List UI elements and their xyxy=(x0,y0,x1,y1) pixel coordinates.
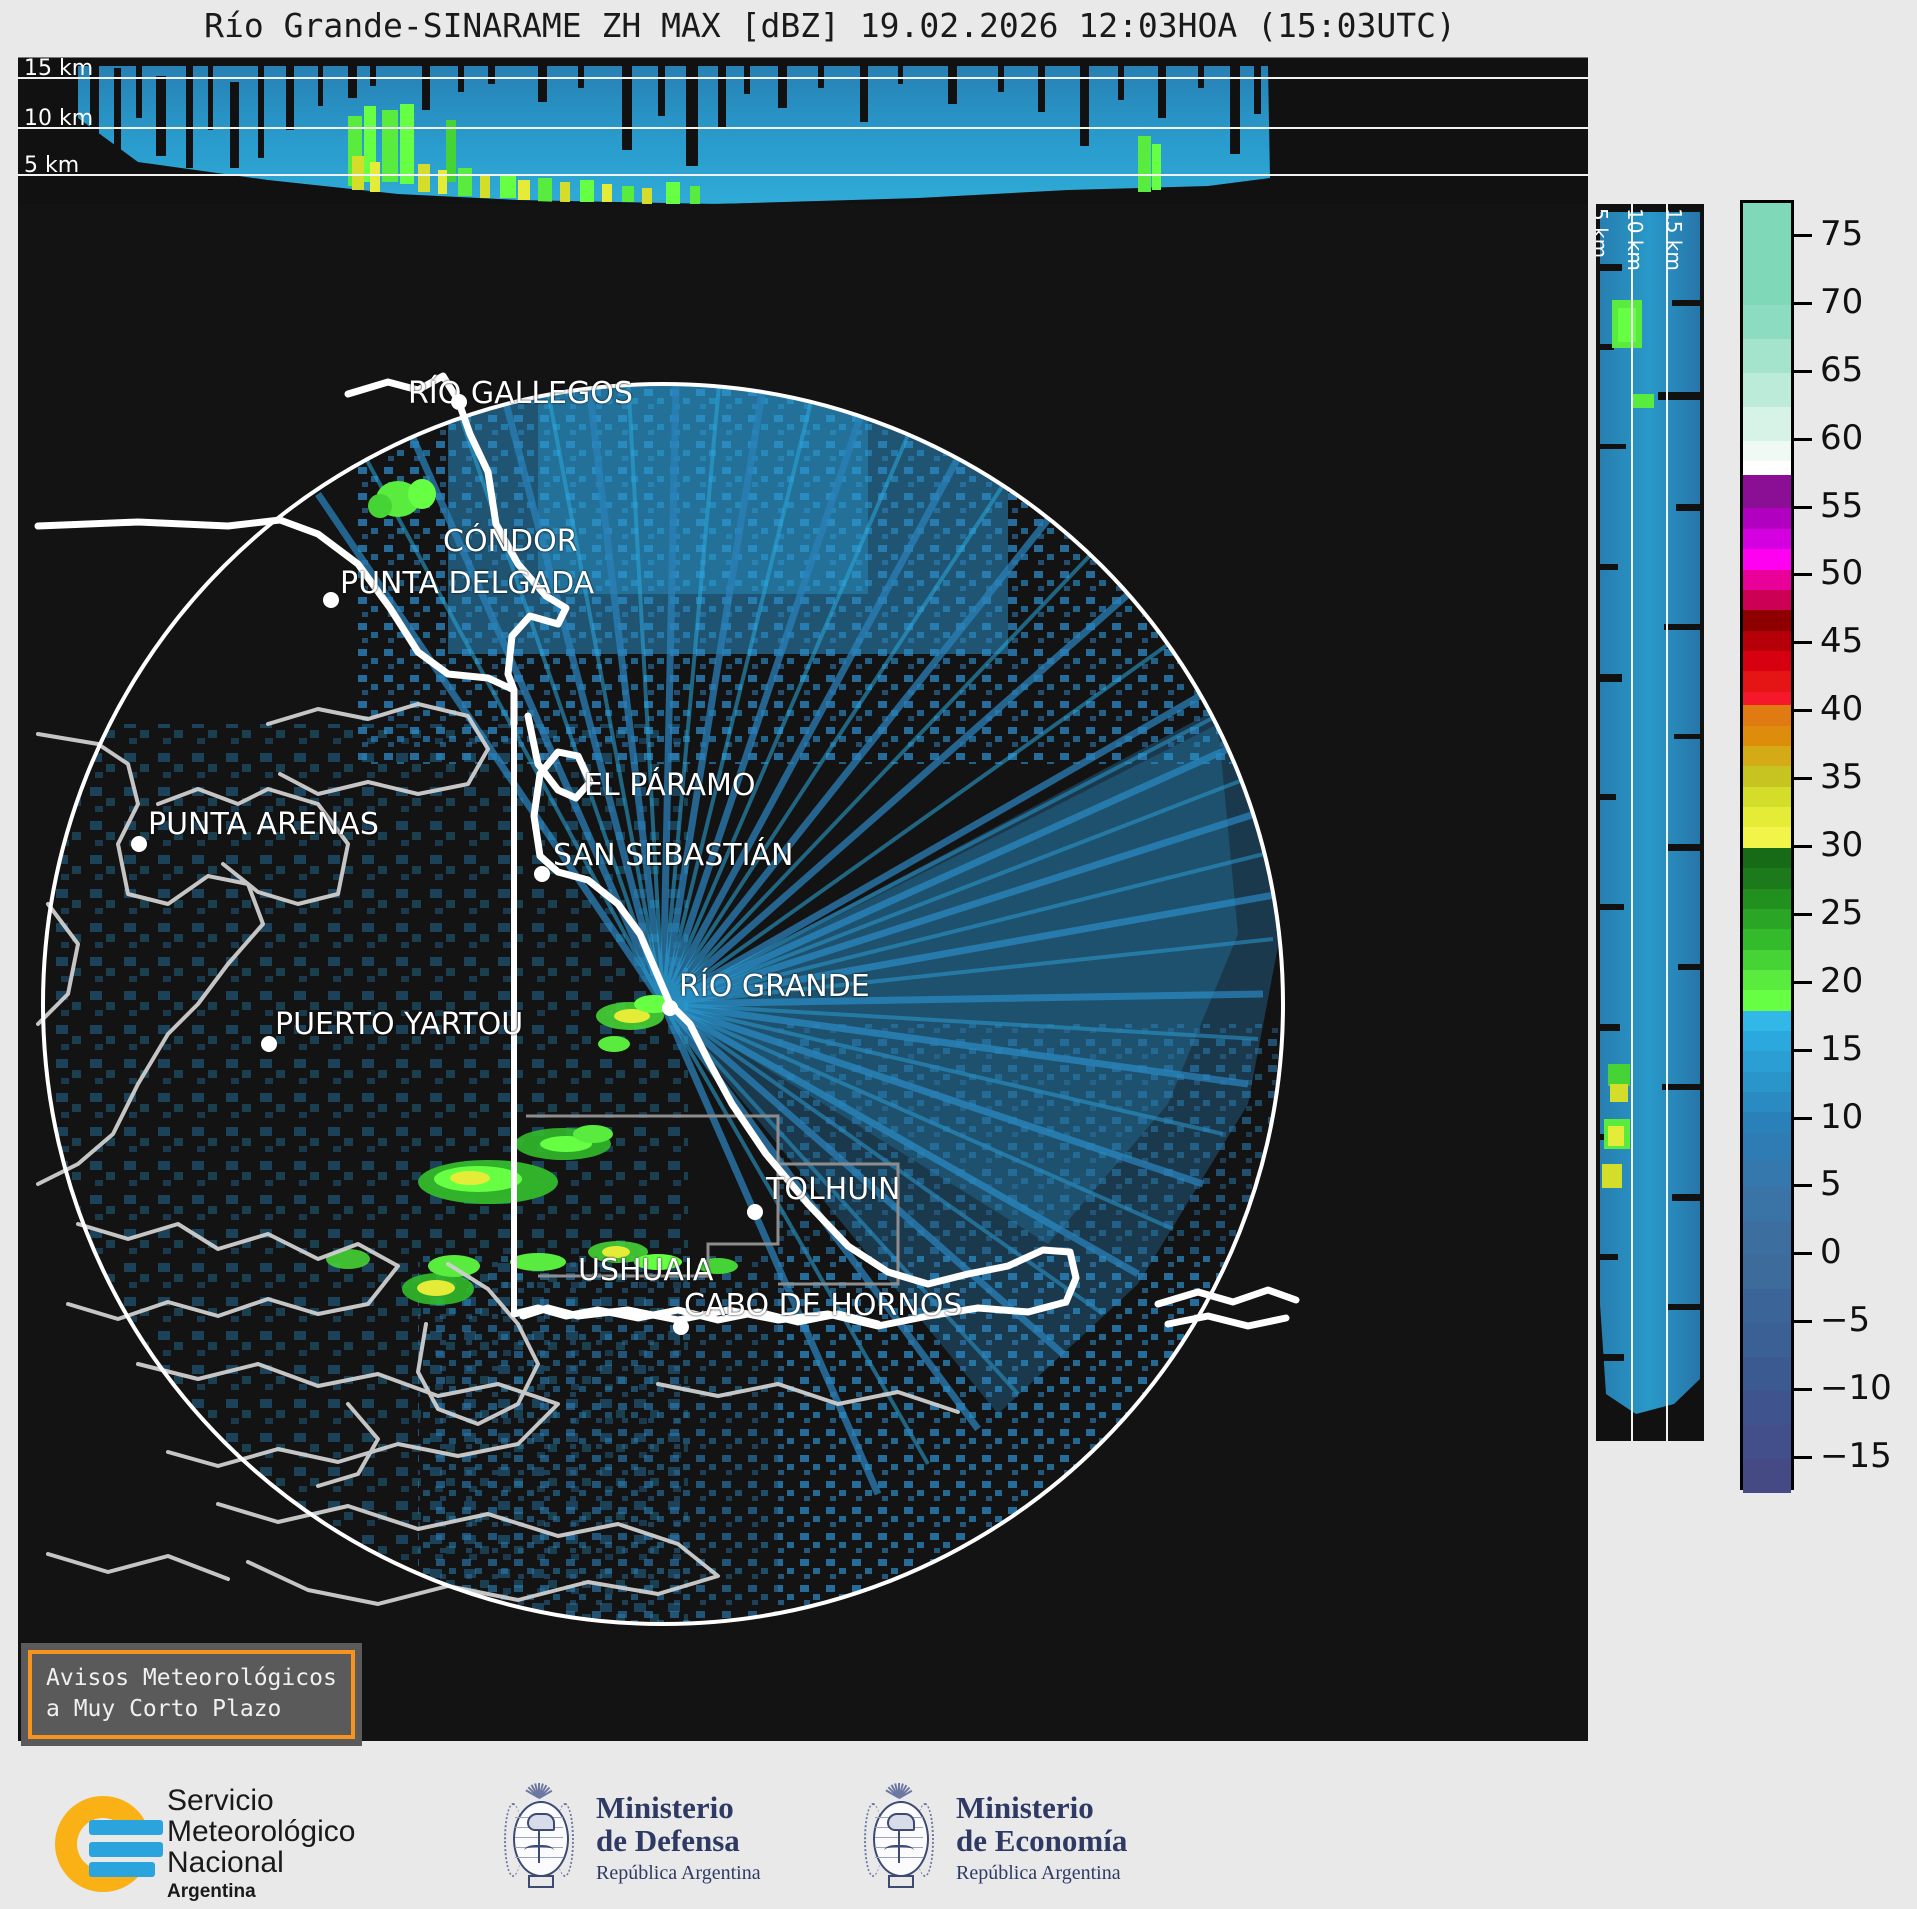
right-cross-section-label-5km: 5 km xyxy=(1596,208,1612,258)
colorbar-tick-label: 10 xyxy=(1820,1097,1863,1137)
radar-plan-view[interactable]: RÍO GALLEGOS CÓNDOR PUNTA DELGADA EL PÁR… xyxy=(18,204,1588,1741)
economia-line-2: de Economía xyxy=(956,1825,1127,1858)
colorbar-tick-label: −10 xyxy=(1820,1368,1892,1408)
colorbar[interactable]: 757065605550454035302520151050−5−10−15 xyxy=(1740,200,1900,1490)
city-dot-tolhuin xyxy=(747,1204,763,1220)
colorbar-tick xyxy=(1794,777,1812,780)
city-dot-punta-delgada xyxy=(323,592,339,608)
colorbar-tick-label: 45 xyxy=(1820,621,1863,661)
colorbar-segment xyxy=(1743,339,1791,373)
colorbar-segment xyxy=(1743,549,1791,569)
city-dot-san-sebastian xyxy=(534,866,550,882)
avisos-line-2: a Muy Corto Plazo xyxy=(46,1694,337,1725)
colorbar-segment xyxy=(1743,373,1791,407)
colorbar-segment xyxy=(1743,1112,1791,1132)
level-line-15km xyxy=(18,77,1588,79)
city-dot-rio-grande xyxy=(662,1000,678,1016)
economia-line-3: República Argentina xyxy=(956,1860,1127,1886)
city-dot-punta-arenas xyxy=(131,836,147,852)
avisos-line-1: Avisos Meteorológicos xyxy=(46,1663,337,1694)
colorbar-tick-label: 5 xyxy=(1820,1164,1842,1204)
colorbar-segment xyxy=(1743,807,1791,827)
colorbar-segment xyxy=(1743,1072,1791,1092)
colorbar-segment xyxy=(1743,990,1791,1010)
smn-line-4: Argentina xyxy=(167,1881,355,1903)
colorbar-tick xyxy=(1794,573,1812,576)
height-line-10km-right xyxy=(1666,204,1668,1441)
colorbar-tick-label: −15 xyxy=(1820,1436,1892,1476)
city-label-san-sebastian: SAN SEBASTIÁN xyxy=(553,838,793,873)
height-line-5km-right xyxy=(1631,204,1633,1441)
defensa-line-2: de Defensa xyxy=(596,1825,761,1858)
colorbar-tick xyxy=(1794,1049,1812,1052)
colorbar-tick-label: 60 xyxy=(1820,418,1863,458)
colorbar-tick-label: 30 xyxy=(1820,825,1863,865)
cross-section-label-10km: 10 km xyxy=(24,108,93,130)
level-line-5km xyxy=(18,174,1588,176)
top-cross-section-data xyxy=(18,58,1588,205)
colorbar-segment xyxy=(1743,746,1791,766)
city-label-condor: CÓNDOR xyxy=(443,524,578,559)
colorbar-segment xyxy=(1743,1357,1791,1391)
colorbar-tick xyxy=(1794,1456,1812,1459)
colorbar-tick xyxy=(1794,641,1812,644)
colorbar-segment xyxy=(1743,1425,1791,1459)
colorbar-tick-label: −5 xyxy=(1820,1300,1870,1340)
colorbar-segment xyxy=(1743,461,1791,475)
colorbar-tick xyxy=(1794,1320,1812,1323)
right-cross-section-data xyxy=(1596,204,1704,1441)
colorbar-segment xyxy=(1743,1187,1791,1221)
city-label-punta-arenas: PUNTA ARENAS xyxy=(148,807,379,842)
city-label-puerto-yartou: PUERTO YARTOU xyxy=(275,1007,523,1042)
smn-line-3: Nacional xyxy=(167,1847,355,1878)
colorbar-segment xyxy=(1743,1221,1791,1255)
colorbar-tick-label: 70 xyxy=(1820,282,1863,322)
colorbar-tick-label: 50 xyxy=(1820,553,1863,593)
city-dot-puerto-yartou xyxy=(261,1036,277,1052)
colorbar-segment xyxy=(1743,671,1791,691)
colorbar-segment xyxy=(1743,970,1791,990)
page-title: Río Grande-SINARAME ZH MAX [dBZ] 19.02.2… xyxy=(0,6,1660,45)
colorbar-segment xyxy=(1743,590,1791,610)
colorbar-tick xyxy=(1794,1117,1812,1120)
smn-line-1: Servicio xyxy=(167,1785,355,1816)
colorbar-segment xyxy=(1743,1323,1791,1357)
colorbar-tick-label: 35 xyxy=(1820,757,1863,797)
economia-line-1: Ministerio xyxy=(956,1792,1127,1825)
colorbar-segment xyxy=(1743,929,1791,949)
colorbar-tick xyxy=(1794,913,1812,916)
colorbar-tick xyxy=(1794,506,1812,509)
city-label-tolhuin: TOLHUIN xyxy=(766,1172,900,1207)
colorbar-segment xyxy=(1743,848,1791,868)
colorbar-segment xyxy=(1743,407,1791,441)
colorbar-segment xyxy=(1743,1011,1791,1031)
colorbar-tick-label: 0 xyxy=(1820,1232,1842,1272)
city-dot-cabo-de-hornos xyxy=(673,1319,689,1335)
colorbar-segment xyxy=(1743,441,1791,461)
colorbar-tick-label: 75 xyxy=(1820,214,1863,254)
colorbar-segment xyxy=(1743,726,1791,746)
defensa-line-1: Ministerio xyxy=(596,1792,761,1825)
colorbar-segment xyxy=(1743,305,1791,339)
colorbar-tick-label: 15 xyxy=(1820,1029,1863,1069)
colorbar-segment xyxy=(1743,1092,1791,1112)
city-label-cabo-de-hornos: CABO DE HORNOS xyxy=(684,1288,962,1323)
cross-section-label-15km: 15 km xyxy=(24,58,93,80)
colorbar-segment xyxy=(1743,1459,1791,1493)
city-label-el-paramo: EL PÁRAMO xyxy=(584,768,756,803)
city-label-rio-gallegos: RÍO GALLEGOS xyxy=(408,376,633,411)
colorbar-segment xyxy=(1743,203,1791,271)
right-cross-section-label-15km: 15 km xyxy=(1662,208,1686,271)
colorbar-tick-label: 40 xyxy=(1820,689,1863,729)
city-dot-rio-gallegos xyxy=(451,394,467,410)
right-cross-section-panel: 5 km 10 km 15 km xyxy=(1596,204,1704,1441)
top-cross-section-panel: 15 km 10 km 5 km xyxy=(18,57,1588,205)
cross-section-label-5km: 5 km xyxy=(24,155,79,177)
colorbar-segment xyxy=(1743,529,1791,549)
city-label-rio-grande: RÍO GRANDE xyxy=(679,969,870,1004)
colorbar-segment xyxy=(1743,766,1791,786)
colorbar-segment xyxy=(1743,475,1791,509)
colorbar-tick-label: 20 xyxy=(1820,961,1863,1001)
colorbar-tick xyxy=(1794,234,1812,237)
smn-logo-icon xyxy=(55,1796,151,1892)
colorbar-segment xyxy=(1743,570,1791,590)
colorbar-segment xyxy=(1743,508,1791,528)
colorbar-segment xyxy=(1743,1160,1791,1187)
colorbar-tick-label: 65 xyxy=(1820,350,1863,390)
smn-line-2: Meteorológico xyxy=(167,1816,355,1847)
city-label-punta-delgada: PUNTA DELGADA xyxy=(340,566,594,601)
colorbar-tick xyxy=(1794,981,1812,984)
logo-ministerio-economia: Ministerio de Economía República Argenti… xyxy=(860,1783,1127,1895)
colorbar-segment xyxy=(1743,868,1791,888)
colorbar-segment xyxy=(1743,1031,1791,1051)
city-label-ushuaia: USHUAIA xyxy=(578,1253,713,1288)
colorbar-tick xyxy=(1794,370,1812,373)
colorbar-tick xyxy=(1794,1388,1812,1391)
colorbar-segment xyxy=(1743,1051,1791,1071)
footer-logos: Servicio Meteorológico Nacional Argentin… xyxy=(0,1775,1917,1909)
colorbar-segment xyxy=(1743,1391,1791,1425)
colorbar-tick xyxy=(1794,1252,1812,1255)
colorbar-tick xyxy=(1794,438,1812,441)
colorbar-segment xyxy=(1743,271,1791,305)
argentina-coat-of-arms-icon-2 xyxy=(860,1783,938,1895)
colorbar-segment xyxy=(1743,1255,1791,1289)
colorbar-segment xyxy=(1743,787,1791,807)
colorbar-segment xyxy=(1743,889,1791,909)
avisos-meteorologicos-box[interactable]: Avisos Meteorológicos a Muy Corto Plazo xyxy=(28,1650,355,1739)
colorbar-tick-label: 25 xyxy=(1820,893,1863,933)
colorbar-segment xyxy=(1743,692,1791,706)
colorbar-segment xyxy=(1743,705,1791,725)
colorbar-gradient xyxy=(1740,200,1794,1490)
colorbar-segment xyxy=(1743,631,1791,651)
right-cross-section-label-10km: 10 km xyxy=(1623,208,1647,271)
colorbar-segment xyxy=(1743,651,1791,671)
colorbar-segment xyxy=(1743,909,1791,929)
colorbar-tick xyxy=(1794,1184,1812,1187)
colorbar-segment xyxy=(1743,610,1791,630)
colorbar-segment xyxy=(1743,950,1791,970)
level-line-10km xyxy=(18,127,1588,129)
colorbar-segment xyxy=(1743,1289,1791,1323)
logo-smn: Servicio Meteorológico Nacional Argentin… xyxy=(55,1785,355,1903)
colorbar-tick-label: 55 xyxy=(1820,486,1863,526)
colorbar-segment xyxy=(1743,1133,1791,1160)
colorbar-tick xyxy=(1794,302,1812,305)
colorbar-tick xyxy=(1794,709,1812,712)
logo-ministerio-defensa: Ministerio de Defensa República Argentin… xyxy=(500,1783,761,1895)
defensa-line-3: República Argentina xyxy=(596,1860,761,1886)
colorbar-segment xyxy=(1743,827,1791,847)
argentina-coat-of-arms-icon xyxy=(500,1783,578,1895)
colorbar-tick xyxy=(1794,845,1812,848)
